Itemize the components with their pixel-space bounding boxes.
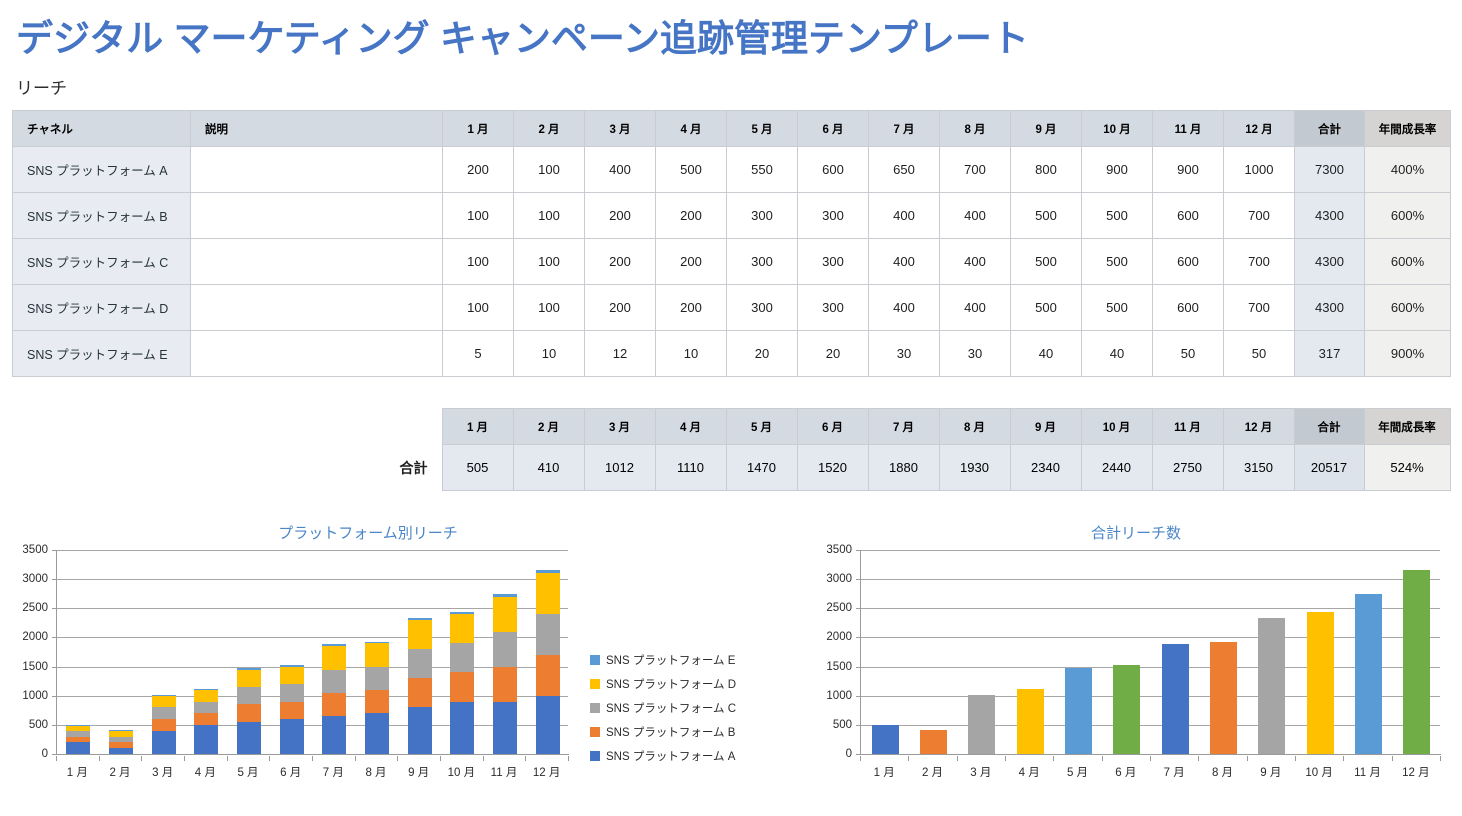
- column-header-month-8: 8 月: [940, 111, 1011, 147]
- column-header-month-1: 1 月: [443, 111, 514, 147]
- bar-segment[interactable]: [66, 731, 90, 737]
- cell-channel[interactable]: SNS プラットフォーム C: [13, 239, 191, 285]
- x-axis-tick: [1247, 756, 1248, 761]
- bar-segment[interactable]: [109, 742, 133, 748]
- chart-reach-by-platform: プラットフォーム別リーチ 050010001500200025003000350…: [8, 520, 728, 812]
- cell-month-8[interactable]: 700: [940, 147, 1011, 193]
- cell-description[interactable]: [191, 285, 443, 331]
- bar-segment[interactable]: [536, 614, 560, 655]
- cell-month-9[interactable]: 500: [1011, 193, 1082, 239]
- gridline: [861, 696, 1440, 697]
- x-axis-tick: [1150, 756, 1151, 761]
- x-axis-tick: [227, 756, 228, 761]
- totals-column-header-month-8: 8 月: [939, 409, 1010, 445]
- spreadsheet-page: デジタル マーケティング キャンペーン追跡管理テンプレート リーチ チャネル説明…: [0, 0, 1462, 816]
- gridline: [861, 579, 1440, 580]
- totals-cell-growth[interactable]: 524%: [1364, 445, 1450, 491]
- bar-segment[interactable]: [194, 702, 218, 714]
- bar-segment[interactable]: [322, 693, 346, 716]
- bar-segment[interactable]: [152, 719, 176, 731]
- bar-segment[interactable]: [237, 687, 261, 704]
- x-axis-tick: [568, 756, 569, 761]
- bar[interactable]: [1210, 642, 1237, 754]
- cell-month-1[interactable]: 100: [443, 239, 514, 285]
- cell-description[interactable]: [191, 193, 443, 239]
- bar-segment[interactable]: [152, 695, 176, 696]
- cell-month-8[interactable]: 400: [940, 193, 1011, 239]
- totals-column-header-month-3: 3 月: [584, 409, 655, 445]
- cell-description[interactable]: [191, 239, 443, 285]
- bar[interactable]: [194, 689, 218, 754]
- table-row: SNS プラットフォーム D10010020020030030040040050…: [13, 285, 1451, 331]
- y-tick-label: 3000: [826, 573, 852, 585]
- bar-segment[interactable]: [365, 713, 389, 754]
- y-tick-label: 1500: [826, 661, 852, 673]
- bar-segment[interactable]: [493, 667, 517, 702]
- x-axis-tick: [1343, 756, 1344, 761]
- totals-column-header-month-7: 7 月: [868, 409, 939, 445]
- bar-segment[interactable]: [408, 707, 432, 754]
- cell-month-9[interactable]: 500: [1011, 285, 1082, 331]
- gridline: [57, 579, 568, 580]
- gridline: [57, 608, 568, 609]
- cell-month-3[interactable]: 200: [585, 239, 656, 285]
- x-axis-tick: [1102, 756, 1103, 761]
- cell-growth[interactable]: 600%: [1365, 193, 1451, 239]
- bar[interactable]: [109, 730, 133, 754]
- totals-table-header-row: 1 月2 月3 月4 月5 月6 月7 月8 月9 月10 月11 月12 月合…: [12, 409, 1450, 445]
- cell-month-5[interactable]: 20: [727, 331, 798, 377]
- cell-month-11[interactable]: 600: [1153, 285, 1224, 331]
- cell-channel[interactable]: SNS プラットフォーム B: [13, 193, 191, 239]
- bar-segment[interactable]: [280, 719, 304, 754]
- reach-table-body: SNS プラットフォーム A20010040050055060065070080…: [13, 147, 1451, 377]
- bar-segment[interactable]: [237, 668, 261, 669]
- cell-month-11[interactable]: 50: [1153, 331, 1224, 377]
- x-axis-line: [57, 754, 569, 755]
- bar-segment[interactable]: [536, 570, 560, 573]
- cell-total[interactable]: 317: [1295, 331, 1365, 377]
- totals-cell-month-6[interactable]: 1520: [797, 445, 868, 491]
- cell-total[interactable]: 4300: [1295, 285, 1365, 331]
- y-tick-label: 0: [846, 748, 852, 760]
- legend-label: SNS プラットフォーム D: [606, 676, 736, 692]
- bar-segment[interactable]: [408, 678, 432, 707]
- bar-segment[interactable]: [536, 573, 560, 614]
- y-axis-tick: [856, 637, 861, 638]
- bar-segment[interactable]: [237, 704, 261, 721]
- bar-segment[interactable]: [408, 620, 432, 649]
- totals-row: 合計50541010121110147015201880193023402440…: [12, 445, 1450, 491]
- x-tick-label: 7 月: [323, 764, 344, 780]
- totals-column-header-growth: 年間成長率: [1364, 409, 1450, 445]
- totals-column-header-month-4: 4 月: [655, 409, 726, 445]
- chart-title-stacked: プラットフォーム別リーチ: [8, 520, 728, 548]
- bar-segment[interactable]: [365, 690, 389, 713]
- cell-month-1[interactable]: 5: [443, 331, 514, 377]
- x-axis-tick: [184, 756, 185, 761]
- x-tick-label: 9 月: [408, 764, 429, 780]
- x-axis-labels: 1 月2 月3 月4 月5 月6 月7 月8 月9 月10 月11 月12 月: [56, 756, 568, 778]
- bar[interactable]: [66, 725, 90, 754]
- bar[interactable]: [872, 725, 899, 754]
- cell-month-4[interactable]: 500: [656, 147, 727, 193]
- cell-month-4[interactable]: 200: [656, 193, 727, 239]
- totals-column-header-month-2: 2 月: [513, 409, 584, 445]
- cell-total[interactable]: 4300: [1295, 239, 1365, 285]
- y-axis-tick: [856, 725, 861, 726]
- bar-segment[interactable]: [66, 737, 90, 743]
- bar-segment[interactable]: [493, 594, 517, 597]
- y-tick-label: 2000: [22, 631, 48, 643]
- cell-growth[interactable]: 400%: [1365, 147, 1451, 193]
- cell-month-2[interactable]: 100: [514, 239, 585, 285]
- x-tick-label: 8 月: [365, 764, 386, 780]
- cell-month-4[interactable]: 200: [656, 239, 727, 285]
- bar-segment[interactable]: [280, 667, 304, 684]
- totals-cell-total[interactable]: 20517: [1294, 445, 1364, 491]
- chart-total-reach: 合計リーチ数 05001000150020002500300035001 月2 …: [812, 520, 1460, 812]
- x-tick-label: 6 月: [280, 764, 301, 780]
- bar-segment[interactable]: [280, 702, 304, 719]
- x-tick-label: 7 月: [1164, 764, 1185, 780]
- x-tick-label: 5 月: [1067, 764, 1088, 780]
- bar-segment[interactable]: [493, 597, 517, 632]
- cell-month-9[interactable]: 800: [1011, 147, 1082, 193]
- gridline: [861, 725, 1440, 726]
- totals-cell-month-1[interactable]: 505: [442, 445, 513, 491]
- totals-table: 1 月2 月3 月4 月5 月6 月7 月8 月9 月10 月11 月12 月合…: [12, 408, 1451, 491]
- cell-month-3[interactable]: 12: [585, 331, 656, 377]
- bar-segment[interactable]: [322, 670, 346, 693]
- bar[interactable]: [237, 668, 261, 754]
- totals-column-header-month-1: 1 月: [442, 409, 513, 445]
- totals-column-header-month-12: 12 月: [1223, 409, 1294, 445]
- bar-segment[interactable]: [109, 731, 133, 737]
- x-tick-label: 8 月: [1212, 764, 1233, 780]
- y-axis-tick: [52, 725, 57, 726]
- legend-swatch-icon: [590, 679, 600, 689]
- bar-segment[interactable]: [408, 618, 432, 620]
- totals-cell-month-5[interactable]: 1470: [726, 445, 797, 491]
- y-axis-tick: [856, 667, 861, 668]
- table-row: SNS プラットフォーム A20010040050055060065070080…: [13, 147, 1451, 193]
- totals-cell-month-12[interactable]: 3150: [1223, 445, 1294, 491]
- x-tick-label: 2 月: [922, 764, 943, 780]
- x-axis-tick: [56, 756, 57, 761]
- legend-label: SNS プラットフォーム A: [606, 748, 735, 764]
- cell-month-7[interactable]: 30: [869, 331, 940, 377]
- y-axis-tick: [856, 608, 861, 609]
- page-title: デジタル マーケティング キャンペーン追跡管理テンプレート: [16, 8, 1029, 62]
- bar[interactable]: [280, 665, 304, 754]
- gridline: [57, 637, 568, 638]
- bar-segment[interactable]: [109, 737, 133, 743]
- x-tick-label: 9 月: [1260, 764, 1281, 780]
- totals-cell-month-2[interactable]: 410: [513, 445, 584, 491]
- legend-item[interactable]: SNS プラットフォーム B: [590, 720, 736, 744]
- bar-segment[interactable]: [280, 665, 304, 666]
- gridline: [57, 725, 568, 726]
- gridline: [861, 637, 1440, 638]
- x-axis-tick: [525, 756, 526, 761]
- x-axis-tick: [1392, 756, 1393, 761]
- cell-channel[interactable]: SNS プラットフォーム E: [13, 331, 191, 377]
- y-tick-label: 1000: [22, 690, 48, 702]
- cell-total[interactable]: 7300: [1295, 147, 1365, 193]
- cell-growth[interactable]: 600%: [1365, 239, 1451, 285]
- bar[interactable]: [1065, 668, 1092, 754]
- x-axis-tick: [908, 756, 909, 761]
- bar-segment[interactable]: [493, 702, 517, 754]
- cell-month-10[interactable]: 900: [1082, 147, 1153, 193]
- table-row: SNS プラットフォーム C10010020020030030040040050…: [13, 239, 1451, 285]
- y-axis-tick: [52, 696, 57, 697]
- column-header-month-12: 12 月: [1224, 111, 1295, 147]
- y-tick-label: 1500: [22, 661, 48, 673]
- y-tick-label: 3500: [22, 544, 48, 556]
- totals-cell-month-7[interactable]: 1880: [868, 445, 939, 491]
- cell-month-4[interactable]: 10: [656, 331, 727, 377]
- cell-channel[interactable]: SNS プラットフォーム D: [13, 285, 191, 331]
- cell-month-3[interactable]: 200: [585, 193, 656, 239]
- bar[interactable]: [1113, 665, 1140, 754]
- cell-month-10[interactable]: 40: [1082, 331, 1153, 377]
- cell-month-10[interactable]: 500: [1082, 239, 1153, 285]
- bar[interactable]: [968, 695, 995, 754]
- bar[interactable]: [450, 612, 474, 754]
- cell-month-11[interactable]: 600: [1153, 193, 1224, 239]
- cell-month-10[interactable]: 500: [1082, 285, 1153, 331]
- cell-description[interactable]: [191, 147, 443, 193]
- bar[interactable]: [493, 594, 517, 754]
- x-axis-tick: [440, 756, 441, 761]
- bar[interactable]: [408, 618, 432, 754]
- bar[interactable]: [536, 570, 560, 754]
- chart-legend: SNS プラットフォーム ESNS プラットフォーム DSNS プラットフォーム…: [590, 648, 736, 768]
- cell-month-1[interactable]: 200: [443, 147, 514, 193]
- bar-segment[interactable]: [450, 614, 474, 643]
- x-tick-label: 2 月: [109, 764, 130, 780]
- x-tick-label: 4 月: [1019, 764, 1040, 780]
- x-axis-tick: [355, 756, 356, 761]
- bar-segment[interactable]: [152, 731, 176, 754]
- cell-month-11[interactable]: 600: [1153, 239, 1224, 285]
- gridline: [57, 696, 568, 697]
- y-tick-label: 0: [42, 748, 48, 760]
- column-header-month-11: 11 月: [1153, 111, 1224, 147]
- bar-segment[interactable]: [194, 713, 218, 725]
- x-axis-tick: [483, 756, 484, 761]
- bar-segment[interactable]: [450, 643, 474, 672]
- cell-month-5[interactable]: 550: [727, 147, 798, 193]
- bar-segment[interactable]: [365, 643, 389, 666]
- cell-month-6[interactable]: 600: [798, 147, 869, 193]
- bar-segment[interactable]: [194, 689, 218, 690]
- bar-segment[interactable]: [536, 696, 560, 754]
- totals-column-header-month-10: 10 月: [1081, 409, 1152, 445]
- column-header-month-9: 9 月: [1011, 111, 1082, 147]
- bar[interactable]: [1017, 689, 1044, 754]
- totals-column-header-month-6: 6 月: [797, 409, 868, 445]
- bar-segment[interactable]: [152, 707, 176, 719]
- x-axis-tick: [1440, 756, 1441, 761]
- reach-table-header: チャネル説明1 月2 月3 月4 月5 月6 月7 月8 月9 月10 月11 …: [13, 111, 1451, 147]
- grid-area: [860, 550, 1440, 754]
- bar[interactable]: [1403, 570, 1430, 754]
- bar[interactable]: [1258, 618, 1285, 754]
- y-tick-label: 500: [833, 719, 852, 731]
- cell-description[interactable]: [191, 331, 443, 377]
- bar-segment[interactable]: [322, 646, 346, 669]
- cell-month-2[interactable]: 10: [514, 331, 585, 377]
- cell-month-8[interactable]: 400: [940, 285, 1011, 331]
- legend-item[interactable]: SNS プラットフォーム D: [590, 672, 736, 696]
- y-tick-label: 3000: [22, 573, 48, 585]
- totals-column-header-month-5: 5 月: [726, 409, 797, 445]
- cell-month-4[interactable]: 200: [656, 285, 727, 331]
- x-axis-labels: 1 月2 月3 月4 月5 月6 月7 月8 月9 月10 月11 月12 月: [860, 756, 1440, 778]
- cell-month-12[interactable]: 1000: [1224, 147, 1295, 193]
- y-axis-tick: [856, 696, 861, 697]
- cell-month-6[interactable]: 300: [798, 285, 869, 331]
- bar[interactable]: [152, 695, 176, 754]
- legend-label: SNS プラットフォーム C: [606, 700, 736, 716]
- y-axis-tick: [52, 579, 57, 580]
- bar-segment[interactable]: [280, 684, 304, 701]
- cell-month-6[interactable]: 20: [798, 331, 869, 377]
- cell-month-7[interactable]: 400: [869, 285, 940, 331]
- legend-swatch-icon: [590, 727, 600, 737]
- x-axis-tick: [99, 756, 100, 761]
- cell-month-2[interactable]: 100: [514, 285, 585, 331]
- column-header-month-7: 7 月: [869, 111, 940, 147]
- chart-title-total: 合計リーチ数: [812, 520, 1460, 548]
- cell-month-5[interactable]: 300: [727, 239, 798, 285]
- bar-segment[interactable]: [365, 642, 389, 644]
- bar-segment[interactable]: [66, 725, 90, 731]
- legend-item[interactable]: SNS プラットフォーム E: [590, 648, 736, 672]
- cell-channel[interactable]: SNS プラットフォーム A: [13, 147, 191, 193]
- x-tick-label: 10 月: [1305, 764, 1333, 780]
- bar[interactable]: [1307, 612, 1334, 754]
- cell-month-12[interactable]: 700: [1224, 239, 1295, 285]
- bar-segment[interactable]: [450, 702, 474, 754]
- bar-segment[interactable]: [365, 667, 389, 690]
- column-header-month-10: 10 月: [1082, 111, 1153, 147]
- cell-month-8[interactable]: 30: [940, 331, 1011, 377]
- bar-segment[interactable]: [66, 742, 90, 754]
- cell-month-7[interactable]: 400: [869, 239, 940, 285]
- y-tick-label: 1000: [826, 690, 852, 702]
- legend-label: SNS プラットフォーム E: [606, 652, 735, 668]
- bar-segment[interactable]: [322, 644, 346, 646]
- cell-month-6[interactable]: 300: [798, 239, 869, 285]
- bar[interactable]: [1162, 644, 1189, 754]
- cell-month-12[interactable]: 700: [1224, 285, 1295, 331]
- cell-growth[interactable]: 900%: [1365, 331, 1451, 377]
- cell-growth[interactable]: 600%: [1365, 285, 1451, 331]
- bar[interactable]: [322, 644, 346, 754]
- x-tick-label: 3 月: [152, 764, 173, 780]
- bar-segment[interactable]: [237, 670, 261, 687]
- cell-month-10[interactable]: 500: [1082, 193, 1153, 239]
- totals-table-header: 1 月2 月3 月4 月5 月6 月7 月8 月9 月10 月11 月12 月合…: [12, 409, 1450, 445]
- cell-month-3[interactable]: 400: [585, 147, 656, 193]
- column-header-total: 合計: [1295, 111, 1365, 147]
- totals-cell-month-10[interactable]: 2440: [1081, 445, 1152, 491]
- y-axis-labels: 0500100015002000250030003500: [8, 550, 48, 754]
- gridline: [861, 667, 1440, 668]
- x-tick-label: 1 月: [874, 764, 895, 780]
- bar-segment[interactable]: [450, 612, 474, 614]
- cell-total[interactable]: 4300: [1295, 193, 1365, 239]
- cell-month-11[interactable]: 900: [1153, 147, 1224, 193]
- cell-month-9[interactable]: 500: [1011, 239, 1082, 285]
- cell-month-7[interactable]: 650: [869, 147, 940, 193]
- cell-month-1[interactable]: 100: [443, 285, 514, 331]
- legend-item[interactable]: SNS プラットフォーム C: [590, 696, 736, 720]
- cell-month-5[interactable]: 300: [727, 285, 798, 331]
- totals-cell-month-3[interactable]: 1012: [584, 445, 655, 491]
- legend-swatch-icon: [590, 655, 600, 665]
- bar-segment[interactable]: [536, 655, 560, 696]
- bar-segment[interactable]: [194, 725, 218, 754]
- totals-header-spacer: [12, 409, 442, 445]
- cell-month-6[interactable]: 300: [798, 193, 869, 239]
- totals-cell-month-8[interactable]: 1930: [939, 445, 1010, 491]
- reach-table: チャネル説明1 月2 月3 月4 月5 月6 月7 月8 月9 月10 月11 …: [12, 110, 1451, 377]
- bar-segment[interactable]: [408, 649, 432, 678]
- bar[interactable]: [1355, 594, 1382, 754]
- cell-month-12[interactable]: 700: [1224, 193, 1295, 239]
- totals-cell-month-9[interactable]: 2340: [1010, 445, 1081, 491]
- cell-month-7[interactable]: 400: [869, 193, 940, 239]
- bar[interactable]: [365, 642, 389, 754]
- y-axis-tick: [52, 667, 57, 668]
- y-axis-tick: [856, 579, 861, 580]
- y-tick-label: 2500: [826, 602, 852, 614]
- bar-segment[interactable]: [450, 672, 474, 701]
- bar[interactable]: [920, 730, 947, 754]
- column-header-month-3: 3 月: [585, 111, 656, 147]
- bar-segment[interactable]: [194, 690, 218, 702]
- x-axis-line: [861, 754, 1441, 755]
- bar-segment[interactable]: [152, 696, 176, 708]
- cell-month-9[interactable]: 40: [1011, 331, 1082, 377]
- cell-month-12[interactable]: 50: [1224, 331, 1295, 377]
- cell-month-3[interactable]: 200: [585, 285, 656, 331]
- cell-month-8[interactable]: 400: [940, 239, 1011, 285]
- cell-month-2[interactable]: 100: [514, 147, 585, 193]
- x-tick-label: 12 月: [1402, 764, 1430, 780]
- legend-label: SNS プラットフォーム B: [606, 724, 735, 740]
- bar-segment[interactable]: [322, 716, 346, 754]
- cell-month-2[interactable]: 100: [514, 193, 585, 239]
- bar-segment[interactable]: [493, 632, 517, 667]
- bar-segment[interactable]: [237, 722, 261, 754]
- cell-month-5[interactable]: 300: [727, 193, 798, 239]
- gridline: [861, 550, 1440, 551]
- totals-cell-month-11[interactable]: 2750: [1152, 445, 1223, 491]
- y-axis-tick: [856, 550, 861, 551]
- bar-segment[interactable]: [109, 730, 133, 731]
- legend-item[interactable]: SNS プラットフォーム A: [590, 744, 736, 768]
- column-header-growth: 年間成長率: [1365, 111, 1451, 147]
- totals-cell-month-4[interactable]: 1110: [655, 445, 726, 491]
- section-label: リーチ: [16, 74, 67, 99]
- cell-month-1[interactable]: 100: [443, 193, 514, 239]
